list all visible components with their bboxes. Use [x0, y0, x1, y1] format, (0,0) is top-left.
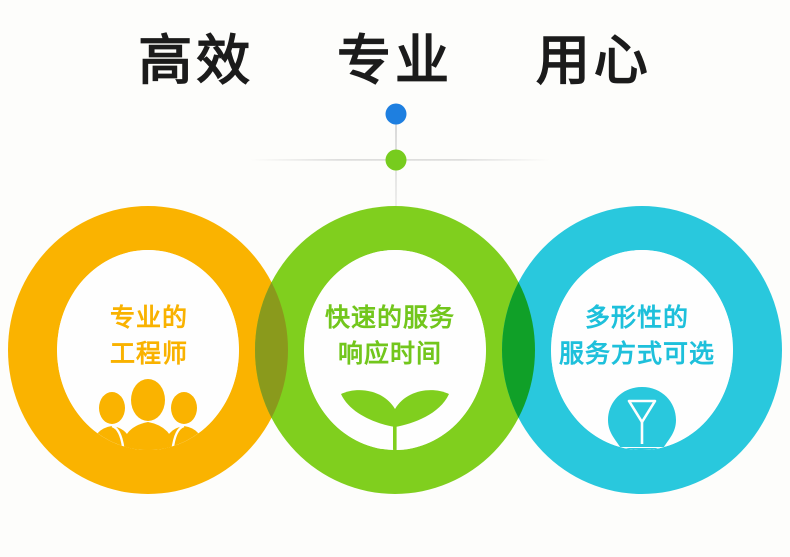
- circle-label-service-options: 多形性的 服务方式可选: [506, 300, 768, 371]
- venn-rings-graphic: [0, 0, 790, 557]
- circle-label-response-time-line2: 响应时间: [267, 336, 513, 372]
- circle-label-service-options-line2: 服务方式可选: [506, 336, 768, 372]
- circle-label-response-time-line1: 快速的服务: [325, 303, 455, 332]
- circle-label-service-options-line1: 多形性的: [585, 303, 689, 332]
- circle-label-engineers: 专业的 工程师: [34, 300, 264, 371]
- circle-label-engineers-line1: 专业的: [110, 303, 188, 332]
- infographic-canvas: 高效 专业 用心: [0, 0, 790, 557]
- circle-label-engineers-line2: 工程师: [34, 336, 264, 372]
- circle-label-response-time: 快速的服务 响应时间: [267, 300, 513, 371]
